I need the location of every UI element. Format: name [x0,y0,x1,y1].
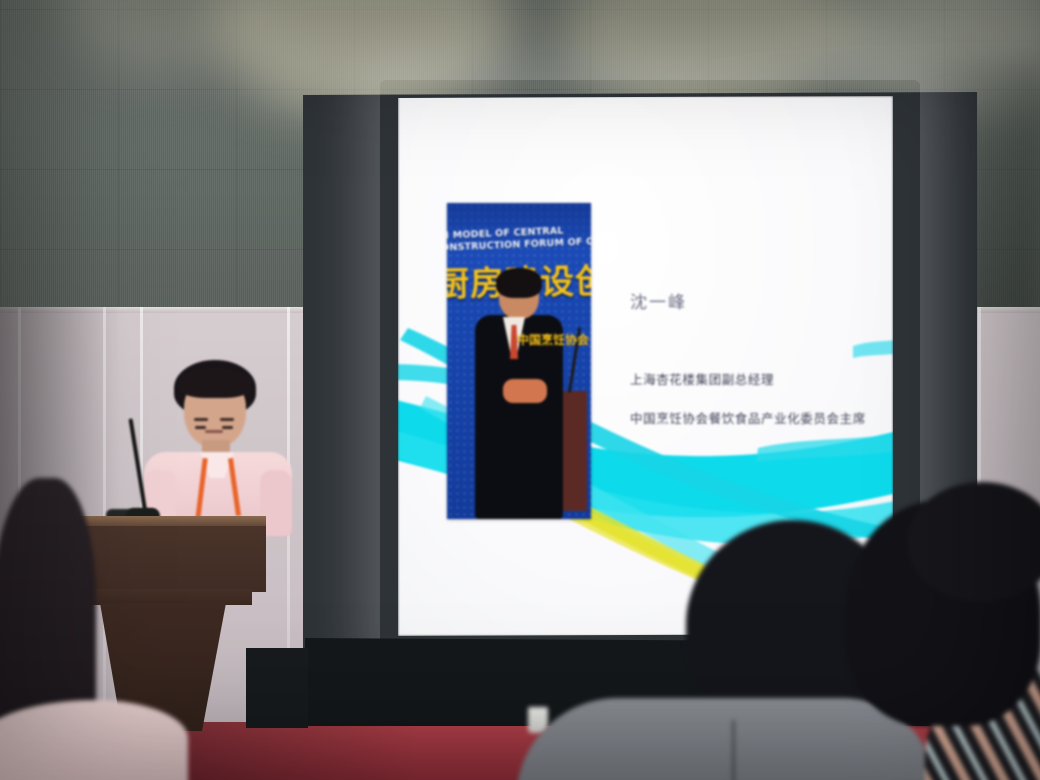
presenter-brow [194,418,208,421]
audience-member-patterned-blouse [845,500,1040,780]
podium-lip [74,589,252,605]
slide-title-line-2: 中国烹饪协会餐饮食品产业化委员会主席 [630,408,866,427]
presenter-eye [195,426,206,429]
foreground-seat-back [0,700,188,780]
presenter-fringe [178,368,252,398]
presenter-brow [220,418,234,421]
presenter-mouth [205,430,223,433]
slide-speaker-name: 沈一峰 [630,288,687,313]
photo-scene: N MODEL OF CENTRAL ONSTRUCTION FORUM OF … [0,0,1040,780]
presenter [150,360,280,535]
presenter-eye [222,426,233,429]
slide-embedded-photo: N MODEL OF CENTRAL ONSTRUCTION FORUM OF … [447,203,591,519]
audience-member-gray-top [536,520,888,780]
photo-speaker-figure [469,273,567,519]
photo-hair [496,268,542,298]
garment-seam [732,720,735,780]
slide-title-line-1: 上海杏花楼集团副总经理 [630,369,774,388]
photo-hands [503,379,547,403]
backdrop-chinese-sub: 中国烹饪协会 [517,331,589,348]
stage-skirt-left [246,648,308,728]
